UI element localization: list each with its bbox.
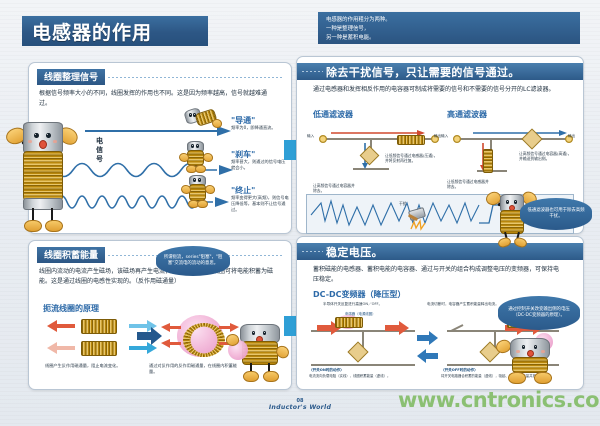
filter-note-highpass-left: 让低频信号通过电感器并除去。 <box>447 179 491 189</box>
section-heading-label: 线圈整理信号 <box>37 69 105 85</box>
section-heading-top-right: 除去干扰信号，只让需要的信号通过。 <box>297 63 583 80</box>
filter-note-highpass-right: 让高频信号通过电容器(高通)，并输送到输出侧。 <box>519 151 575 161</box>
mascot-sitting <box>496 334 560 388</box>
terminal-out-highpass: 输出 <box>568 133 575 139</box>
note-switch-onoff: 半导体开关反复进行高速ON／OFF。 <box>323 301 409 307</box>
page-title-text: 电感器的作用 <box>32 18 152 45</box>
section-heading-bottom-right: 稳定电压。 <box>297 243 583 260</box>
leading-dots <box>301 71 323 72</box>
noise-label: 干扰 <box>399 201 407 207</box>
page-title: 电感器的作用 <box>22 16 208 46</box>
mascot-hugging-energy <box>226 322 288 386</box>
state-desc-stop: 频率变得更大(高频)，则信号电压降低等，基本则不让信号通过。 <box>231 195 289 213</box>
watermark: www.cntronics.com <box>398 388 598 412</box>
coil-symbol-lowpass <box>397 135 425 145</box>
mini-mascot-brake <box>179 141 219 175</box>
filter-title-highpass: 高通滤波器 <box>447 109 487 120</box>
mascot-right-foot <box>45 220 63 232</box>
subtitle-choke-principle: 扼流线圈的原理 <box>43 303 99 314</box>
coil-symbol-dcdc-on <box>335 317 363 328</box>
intro-line-3: 另一种是蓄积电能。 <box>326 34 572 43</box>
caption-bl-left: 线圈产生反作用磁通量，阻止电流变化。 <box>45 363 135 369</box>
infographic-sheet: 电感器的作用 电感器的作用粗分为两种。 一种是整理信号， 另一种是蓄积电能。 线… <box>0 0 600 426</box>
circuit-lowpass <box>313 123 445 179</box>
speech-bubble-choke: 所谓扼流，series"阻塞"，"阻塞"交流电的流动的意思。 <box>156 246 230 276</box>
mini-mascot-conduct <box>181 107 223 133</box>
circuit-dcdc-on <box>307 321 419 371</box>
signal-label: 电信号 <box>95 137 104 164</box>
filter-note-lowpass-right: 让低频信号通过电感器(压通)，并将反射再往复。 <box>385 153 441 163</box>
terminal-in-highpass: 输入 <box>441 133 448 139</box>
state-desc-brake: 频率甚大，则通过的信号电压就会小。 <box>231 159 289 171</box>
section-heading-label: 线圈积蓄能量 <box>37 247 105 263</box>
speech-bubble-lowpass: 低通滤波器也可用于除去高频干扰。 <box>520 198 592 230</box>
mascot-can-body <box>23 122 63 154</box>
subtitle-dcdc-converter: DC-DC变频器（降压型） <box>313 289 406 300</box>
filter-title-lowpass: 低通滤波器 <box>313 109 353 120</box>
mascot-left-foot <box>24 220 42 232</box>
section-body-bottom-left: 线圈内流动的电流产生磁场，该磁场再产生电流，通过这种方式，线圈可将电能积蓄为磁能… <box>39 267 279 286</box>
section-heading-label: 稳定电压。 <box>326 244 383 260</box>
state-toggle-arrows <box>417 331 439 365</box>
section-heading-top-left: 线圈整理信号 <box>37 70 283 84</box>
section-body-bottom-right: 蓄积磁能的电感器、蓄积电能的电容器、通过与开关的组合构成调整电压的变频器，可保持… <box>313 265 563 284</box>
filter-note-lowpass-left: 让高频信号通过电容器并除去。 <box>313 183 357 193</box>
section-body-top-left: 根据信号频率大小的不同，线圈发挥的作用也不同。这是因为频率越高，信号就越难通过。 <box>39 89 277 108</box>
coil-symbol-highpass <box>483 149 493 173</box>
caption-on-desc: 电流流向负载电阻（实线），线圈积蓄能量（虚线）。 <box>309 373 419 379</box>
speech-bubble-dcdc: 通过控制开关改变输出侧的电压 （DC-DC变频器的原理）。 <box>498 296 580 330</box>
leading-dots <box>301 251 323 252</box>
section-heading-label: 除去干扰信号，只让需要的信号通过。 <box>326 64 520 80</box>
intro-line-1: 电感器的作用粗分为两种。 <box>326 16 572 25</box>
intro-box: 电感器的作用粗分为两种。 一种是整理信号， 另一种是蓄积电能。 <box>318 12 580 44</box>
mascot-inductor-character <box>6 112 80 236</box>
section-body-top-right: 通过电感器和发挥相反作用的电容器可制成将需要的信号和不需要的信号分开的LC滤波器… <box>313 85 563 95</box>
dotted-rule <box>107 77 283 78</box>
intro-line-2: 一种是整理信号， <box>326 25 572 34</box>
mini-mascot-stop <box>181 175 221 211</box>
mascot-coil-winding <box>23 151 63 201</box>
transition-arrow-bl <box>137 327 163 345</box>
state-desc-conduct: 频率为0，即降通直流。 <box>231 125 289 131</box>
terminal-in-lowpass: 输入 <box>307 133 314 139</box>
impact-spark-icon <box>407 219 429 231</box>
